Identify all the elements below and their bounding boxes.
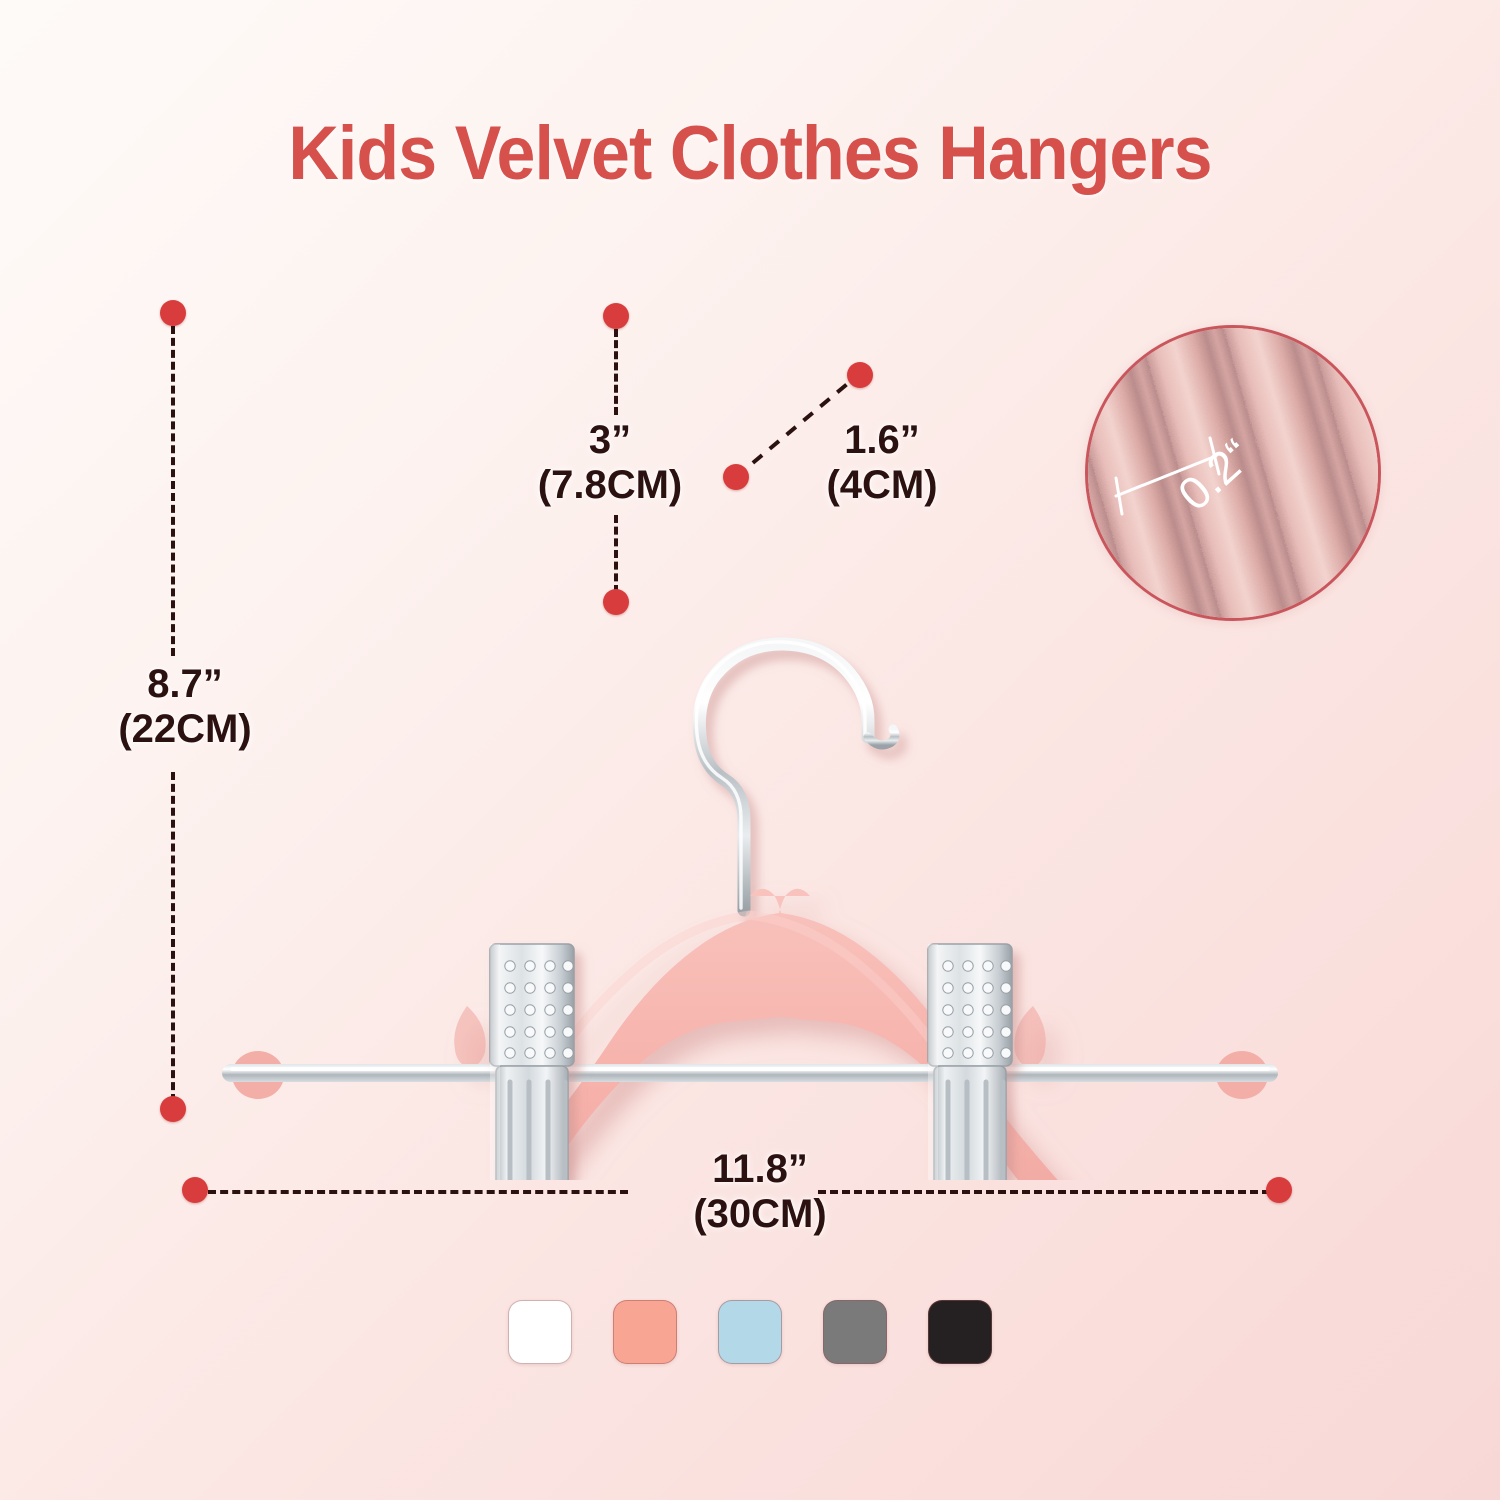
height-dash-lower (171, 772, 175, 1102)
height-dash-upper (171, 326, 175, 656)
overall-width-cm: (30CM) (545, 1192, 975, 1237)
hook-height-dot-bottom (603, 589, 629, 615)
hook-height-dot-top (603, 303, 629, 329)
width-dot-left (182, 1177, 208, 1203)
hanger-clip-left[interactable] (490, 944, 574, 1180)
velvet-detail-circle: 0.2“ (1085, 325, 1381, 621)
hook-height-cm: (7.8CM) (500, 463, 720, 508)
hook-opening-dot-lower (723, 464, 749, 490)
velvet-texture: 0.2“ (1088, 328, 1378, 618)
swatch-grey[interactable] (823, 1300, 887, 1364)
swatch-white[interactable] (508, 1300, 572, 1364)
overall-width-inches: 11.8” (712, 1147, 808, 1191)
overall-height-cm: (22CM) (60, 707, 310, 752)
swatch-light-blue[interactable] (718, 1300, 782, 1364)
swatch-pink[interactable] (613, 1300, 677, 1364)
hanger-clip-right[interactable] (928, 944, 1012, 1180)
hook-opening-inches: 1.6” (844, 418, 920, 462)
color-swatch-row (0, 1300, 1500, 1364)
hook-opening-label: 1.6” (4CM) (772, 418, 992, 508)
hook-height-dash-lower (614, 515, 618, 593)
hook-opening-cm: (4CM) (772, 463, 992, 508)
hanger-hook (696, 642, 895, 910)
overall-height-inches: 8.7” (147, 662, 223, 706)
width-dash-right (818, 1190, 1270, 1194)
hook-height-inches: 3” (589, 418, 631, 462)
hanger-bottom-bar (222, 1064, 1278, 1082)
page-title: Kids Velvet Clothes Hangers (60, 110, 1440, 197)
swatch-black[interactable] (928, 1300, 992, 1364)
hook-height-label: 3” (7.8CM) (500, 418, 720, 508)
overall-height-label: 8.7” (22CM) (60, 662, 310, 752)
hook-opening-dot-upper (847, 362, 873, 388)
width-dot-right (1266, 1177, 1292, 1203)
infographic-canvas: Kids Velvet Clothes Hangers (0, 0, 1500, 1500)
hook-height-dash-upper (614, 329, 618, 415)
height-dot-bottom (160, 1096, 186, 1122)
height-dot-top (160, 300, 186, 326)
